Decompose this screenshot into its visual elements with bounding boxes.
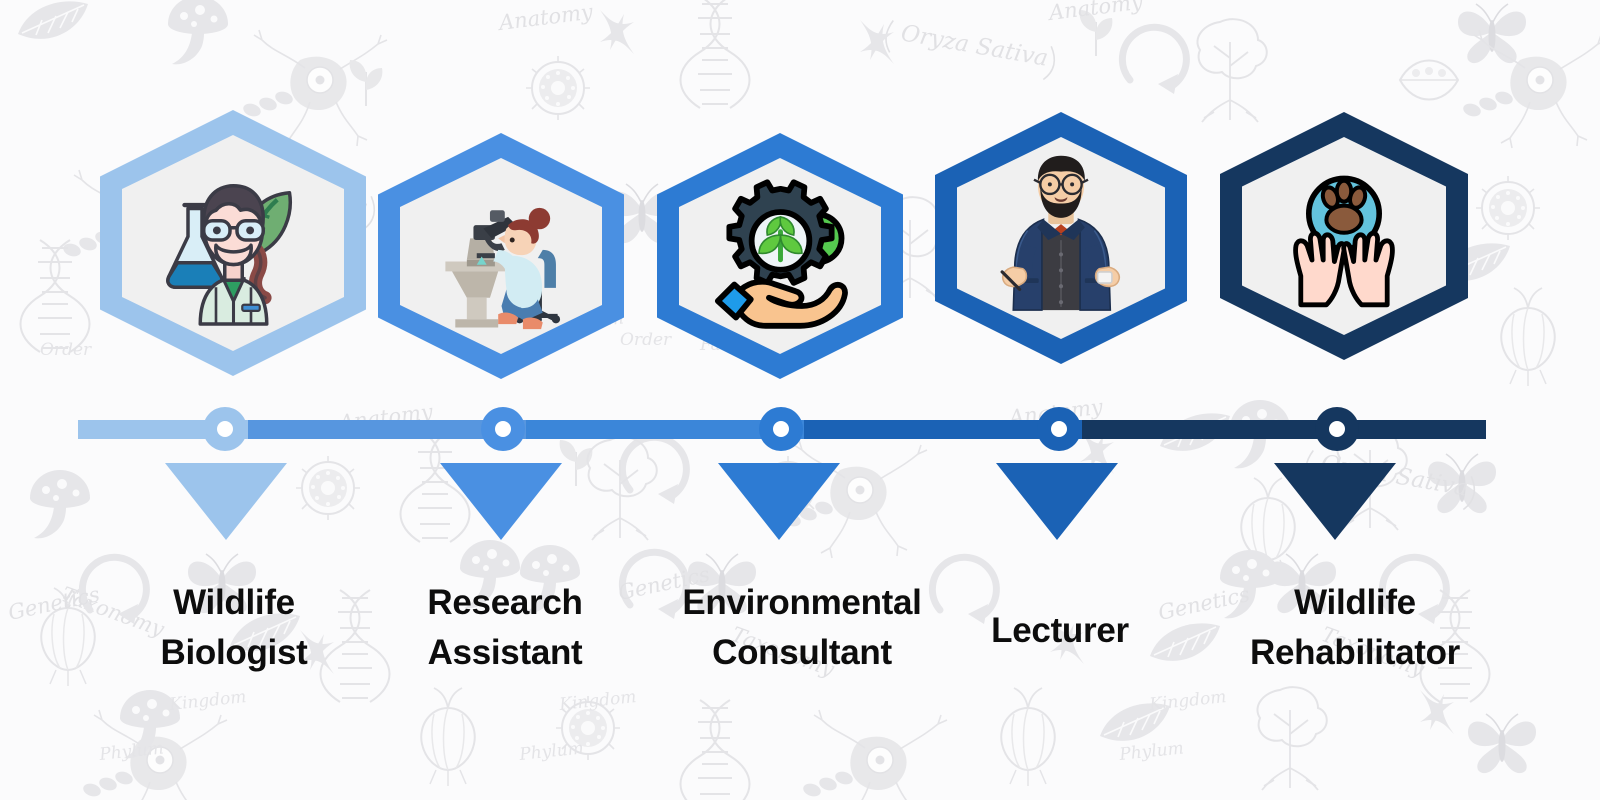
timeline-node-4-center xyxy=(1051,421,1067,437)
timeline-node-1[interactable] xyxy=(203,407,247,451)
step-3-label: Environmental Consultant xyxy=(628,578,976,677)
step-5-hexagon-border xyxy=(1220,112,1468,360)
step-3-pointer-triangle xyxy=(718,463,840,540)
step-3-hexagon-border xyxy=(657,133,903,379)
step-2-pointer-triangle xyxy=(440,463,562,540)
step-5-hexagon[interactable] xyxy=(1220,112,1468,360)
step-2-label: Research Assistant xyxy=(368,578,642,677)
step-2-hexagon-face xyxy=(400,158,602,354)
timeline-node-2[interactable] xyxy=(481,407,525,451)
lecturer-icon xyxy=(981,151,1141,326)
step-2-hexagon[interactable] xyxy=(378,133,624,379)
step-5-pointer-triangle xyxy=(1274,463,1396,540)
career-timeline-infographic: Oryza Sativa Anatomy Taxonomy Genetics O… xyxy=(0,0,1600,800)
timeline-node-4[interactable] xyxy=(1037,407,1081,451)
timeline-node-3-center xyxy=(773,421,789,437)
step-1-hexagon[interactable] xyxy=(100,110,366,376)
step-5-label: Wildlife Rehabilitator xyxy=(1196,578,1514,677)
microscope-researcher-icon xyxy=(419,174,584,339)
timeline-node-1-center xyxy=(217,421,233,437)
timeline-segment-5 xyxy=(1082,420,1486,439)
step-4-label: Lecturer xyxy=(930,606,1190,656)
timeline-node-2-center xyxy=(495,421,511,437)
paw-hands-icon xyxy=(1264,156,1424,316)
step-1-pointer-triangle xyxy=(165,463,287,540)
timeline-node-3[interactable] xyxy=(759,407,803,451)
step-3-hexagon-face xyxy=(679,158,881,354)
step-2-hexagon-border xyxy=(378,133,624,379)
step-4-hexagon[interactable] xyxy=(935,112,1187,364)
wildlife-biologist-icon xyxy=(146,156,321,331)
step-4-hexagon-border xyxy=(935,112,1187,364)
step-1-hexagon-border xyxy=(100,110,366,376)
step-1-label: Wildlife Biologist xyxy=(92,578,376,677)
timeline-node-5[interactable] xyxy=(1315,407,1359,451)
step-5-hexagon-face xyxy=(1242,137,1446,335)
step-3-hexagon[interactable] xyxy=(657,133,903,379)
step-1-hexagon-face xyxy=(122,135,344,351)
timeline-node-5-center xyxy=(1329,421,1345,437)
step-4-pointer-triangle xyxy=(996,463,1118,540)
eco-gear-hand-icon xyxy=(698,174,863,339)
step-4-hexagon-face xyxy=(957,137,1165,339)
